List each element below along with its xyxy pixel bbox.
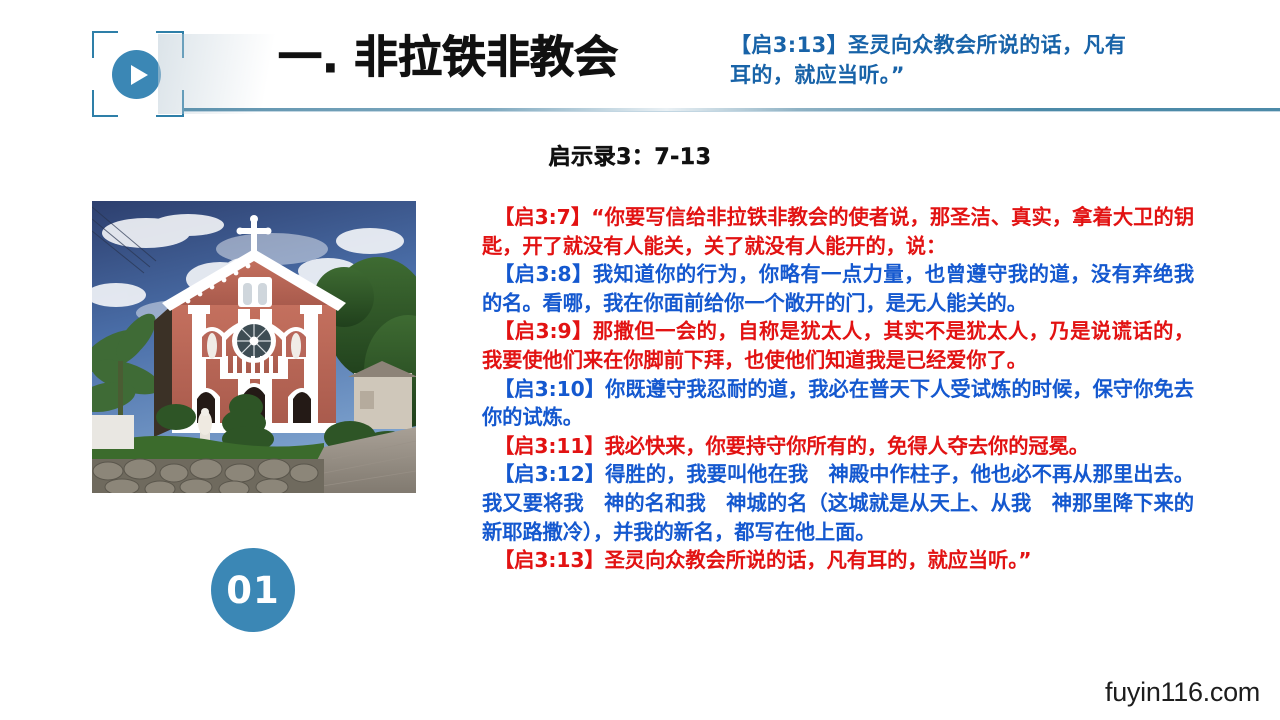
- verse-text: 圣灵向众教会所说的话，凡有耳的，就应当听。”: [605, 548, 1032, 572]
- verse-reference: 【启3:7】: [494, 205, 591, 229]
- scripture-verse: 【启3:8】我知道你的行为，你略有一点力量，也曾遵守我的道，没有弃绝我的名。看哪…: [482, 260, 1194, 317]
- page-title: 一. 非拉铁非教会: [278, 36, 678, 80]
- verse-reference: 【启3:9】: [494, 319, 593, 343]
- verse-reference: 【启3:13】: [494, 548, 605, 572]
- scripture-verse: 【启3:10】你既遵守我忍耐的道，我必在普天下人受试炼的时候，保守你免去你的试炼…: [482, 375, 1194, 432]
- play-triangle-glyph: [131, 65, 148, 85]
- section-number-label: 01: [226, 572, 280, 609]
- frame-gap-top: [118, 29, 156, 35]
- scripture-verse: 【启3:7】“你要写信给非拉铁非教会的使者说，那圣洁、真实，拿着大卫的钥匙，开了…: [482, 203, 1194, 260]
- slide-canvas: 一. 非拉铁非教会 【启3:13】圣灵向众教会所说的话，凡有耳的，就应当听。”: [0, 0, 1280, 720]
- scripture-verse: 【启3:12】得胜的，我要叫他在我 神殿中作柱子，他也必不再从那里出去。我又要将…: [482, 460, 1194, 546]
- header-divider-rule-thin: [184, 111, 1280, 112]
- slide-header: 一. 非拉铁非教会 【启3:13】圣灵向众教会所说的话，凡有耳的，就应当听。”: [0, 0, 1280, 130]
- frame-gap-left: [90, 58, 96, 90]
- frame-gap-bottom: [118, 113, 156, 119]
- scripture-body: 【启3:7】“你要写信给非拉铁非教会的使者说，那圣洁、真实，拿着大卫的钥匙，开了…: [482, 203, 1194, 575]
- church-photo: [92, 201, 416, 493]
- scripture-verse: 【启3:9】那撒但一会的，自称是犹太人，其实不是犹太人，乃是说谎话的，我要使他们…: [482, 317, 1194, 374]
- scripture-verse: 【启3:13】圣灵向众教会所说的话，凡有耳的，就应当听。”: [482, 546, 1194, 575]
- header-verse-highlight: 【启3:13】圣灵向众教会所说的话，凡有耳的，就应当听。”: [730, 31, 1130, 91]
- verse-reference: 【启3:10】: [494, 377, 605, 401]
- section-number-badge: 01: [211, 548, 295, 632]
- verse-reference: 【启3:11】: [494, 434, 605, 458]
- scripture-verse: 【启3:11】我必快来，你要持守你所有的，免得人夺去你的冠冕。: [482, 432, 1194, 461]
- scripture-heading: 启示录3：7-13: [420, 139, 840, 171]
- site-watermark: fuyin116.com: [1105, 677, 1260, 708]
- verse-reference: 【启3:8】: [494, 262, 593, 286]
- frame-gap-right: [180, 58, 186, 90]
- verse-reference: 【启3:12】: [494, 462, 605, 486]
- play-icon[interactable]: [112, 50, 161, 99]
- verse-text: 我必快来，你要持守你所有的，免得人夺去你的冠冕。: [605, 434, 1089, 458]
